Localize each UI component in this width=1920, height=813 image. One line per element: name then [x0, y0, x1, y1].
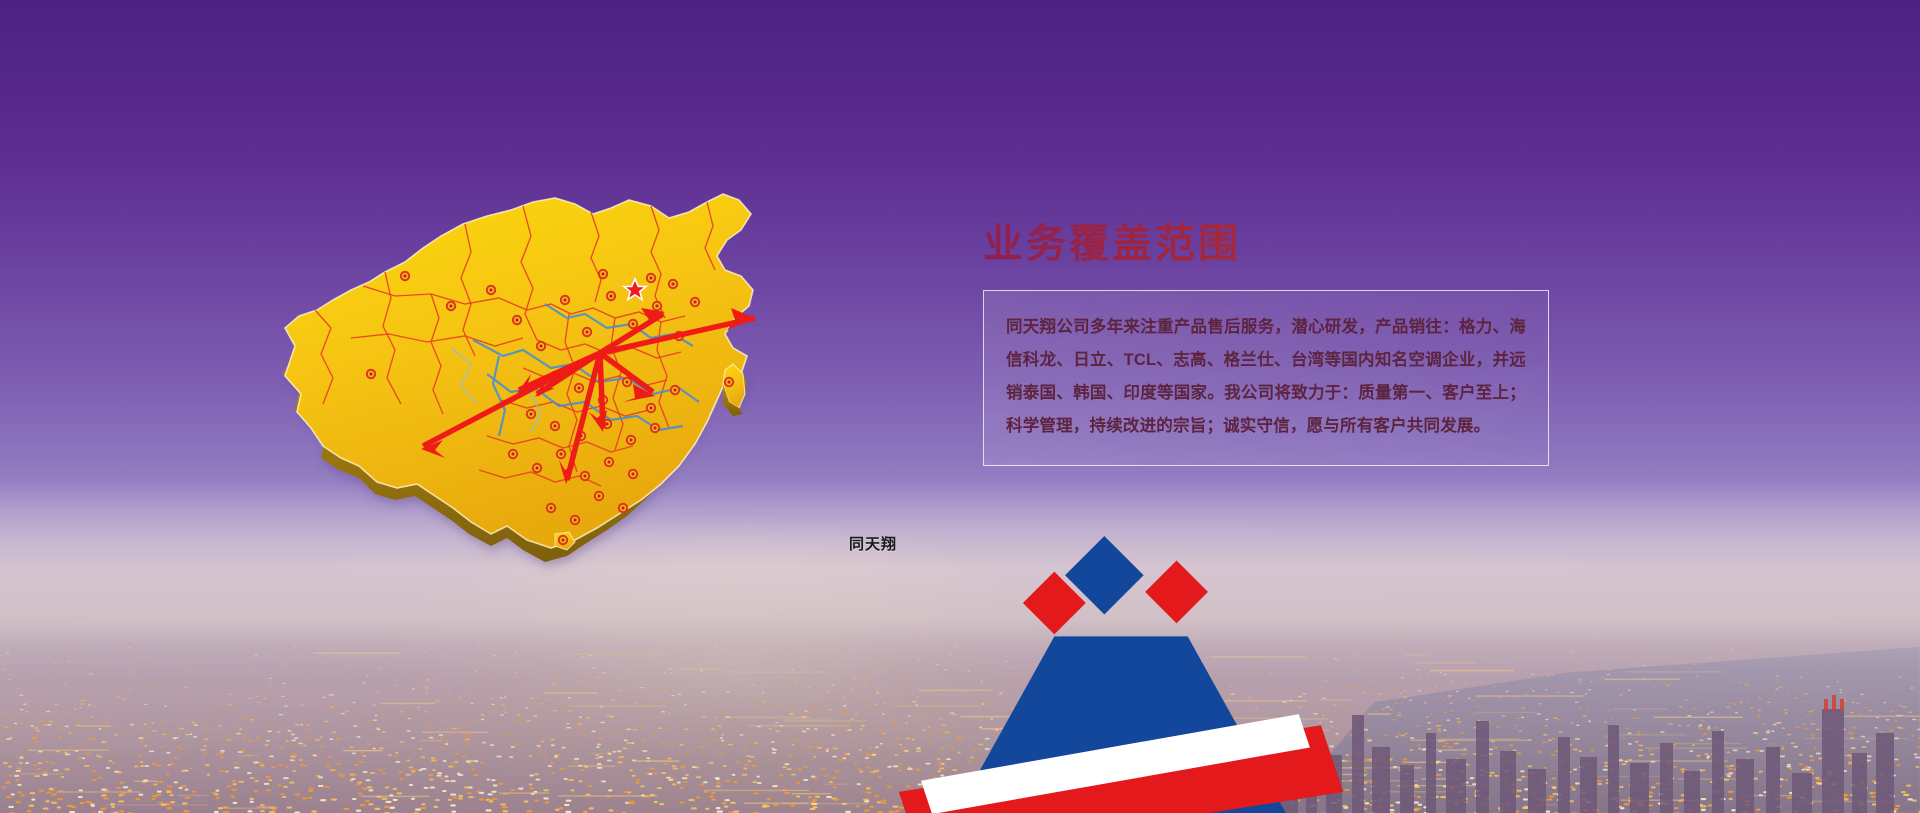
business-coverage-banner: 同天翔 业务覆盖范围 同天翔公司多年来注重产品售后服务，潜心研发，产品销往：格力… — [0, 0, 1920, 813]
china-map: 同天翔 — [255, 178, 795, 578]
page-title: 业务覆盖范围 — [983, 222, 1553, 266]
description-text: 同天翔公司多年来注重产品售后服务，潜心研发，产品销往：格力、海信科龙、日立、TC… — [1006, 311, 1526, 443]
china-map-svg — [255, 178, 795, 578]
mainland-surface — [285, 194, 753, 548]
copy-column: 业务覆盖范围 同天翔公司多年来注重产品售后服务，潜心研发，产品销往：格力、海信科… — [983, 222, 1553, 466]
company-logo-icon — [851, 503, 1391, 813]
hq-city-label: 同天翔 — [849, 533, 897, 554]
description-box: 同天翔公司多年来注重产品售后服务，潜心研发，产品销往：格力、海信科龙、日立、TC… — [983, 290, 1549, 466]
